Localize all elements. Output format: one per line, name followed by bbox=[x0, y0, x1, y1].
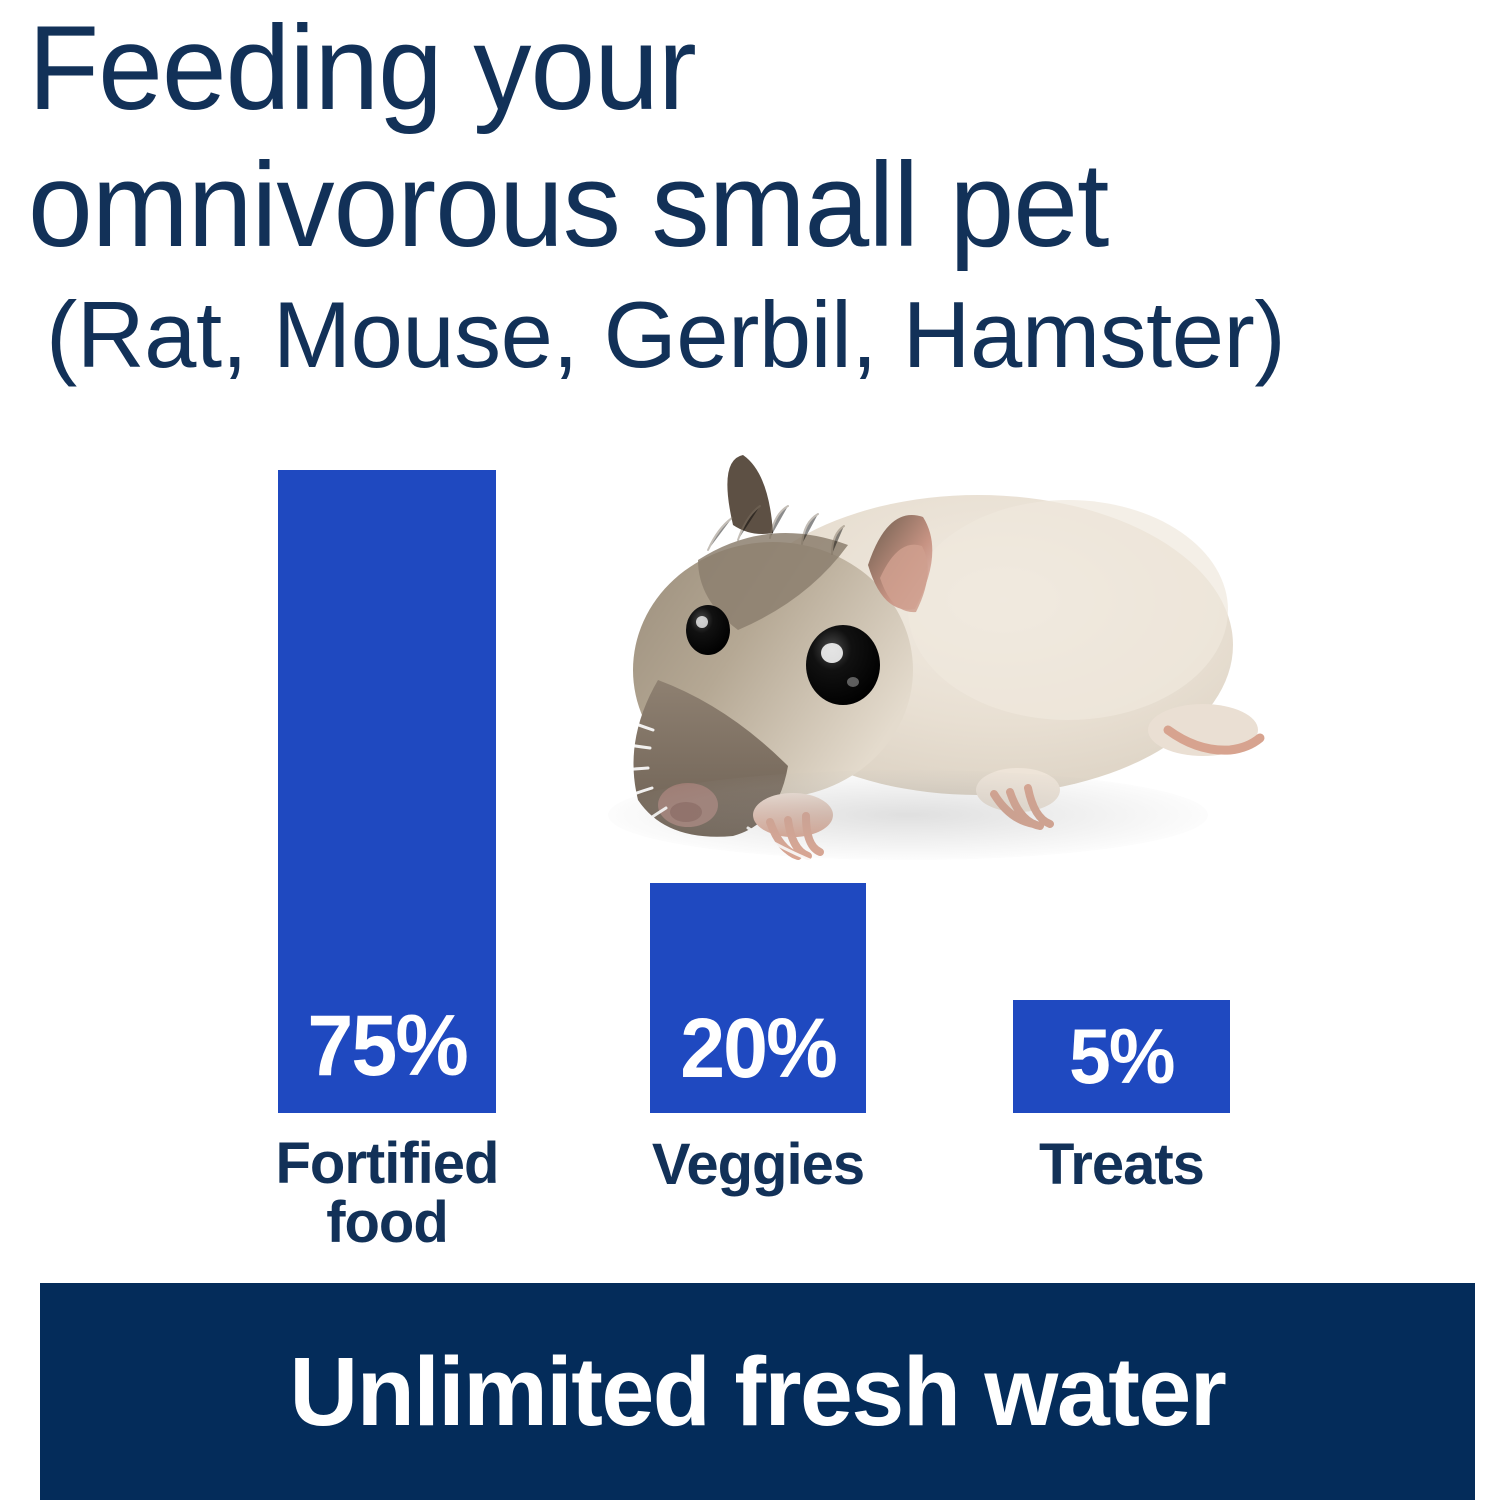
bar-label-veggies: Veggies bbox=[620, 1135, 896, 1194]
bar-treats: 5% bbox=[1013, 1000, 1230, 1113]
bar-label-fortified-food: Fortified food bbox=[250, 1134, 524, 1252]
bar-veggies: 20% bbox=[650, 883, 866, 1113]
bar-fortified-food: 75% bbox=[278, 470, 496, 1113]
footer-banner-text: Unlimited fresh water bbox=[290, 1342, 1226, 1442]
bar-value-fortified-food: 75% bbox=[307, 1003, 466, 1113]
bar-chart: 75% Fortified food 20% Veggies 5% Treats bbox=[0, 0, 1500, 1270]
bar-value-veggies: 20% bbox=[680, 1005, 836, 1113]
bar-group-veggies: 20% Veggies bbox=[650, 0, 866, 1270]
infographic-root: Feeding your omnivorous small pet (Rat, … bbox=[0, 0, 1500, 1500]
footer-banner: Unlimited fresh water bbox=[40, 1283, 1475, 1500]
bar-label-treats: Treats bbox=[983, 1135, 1260, 1194]
bar-group-fortified-food: 75% Fortified food bbox=[278, 0, 496, 1270]
bar-group-treats: 5% Treats bbox=[1013, 0, 1230, 1270]
bar-value-treats: 5% bbox=[1069, 1013, 1173, 1113]
